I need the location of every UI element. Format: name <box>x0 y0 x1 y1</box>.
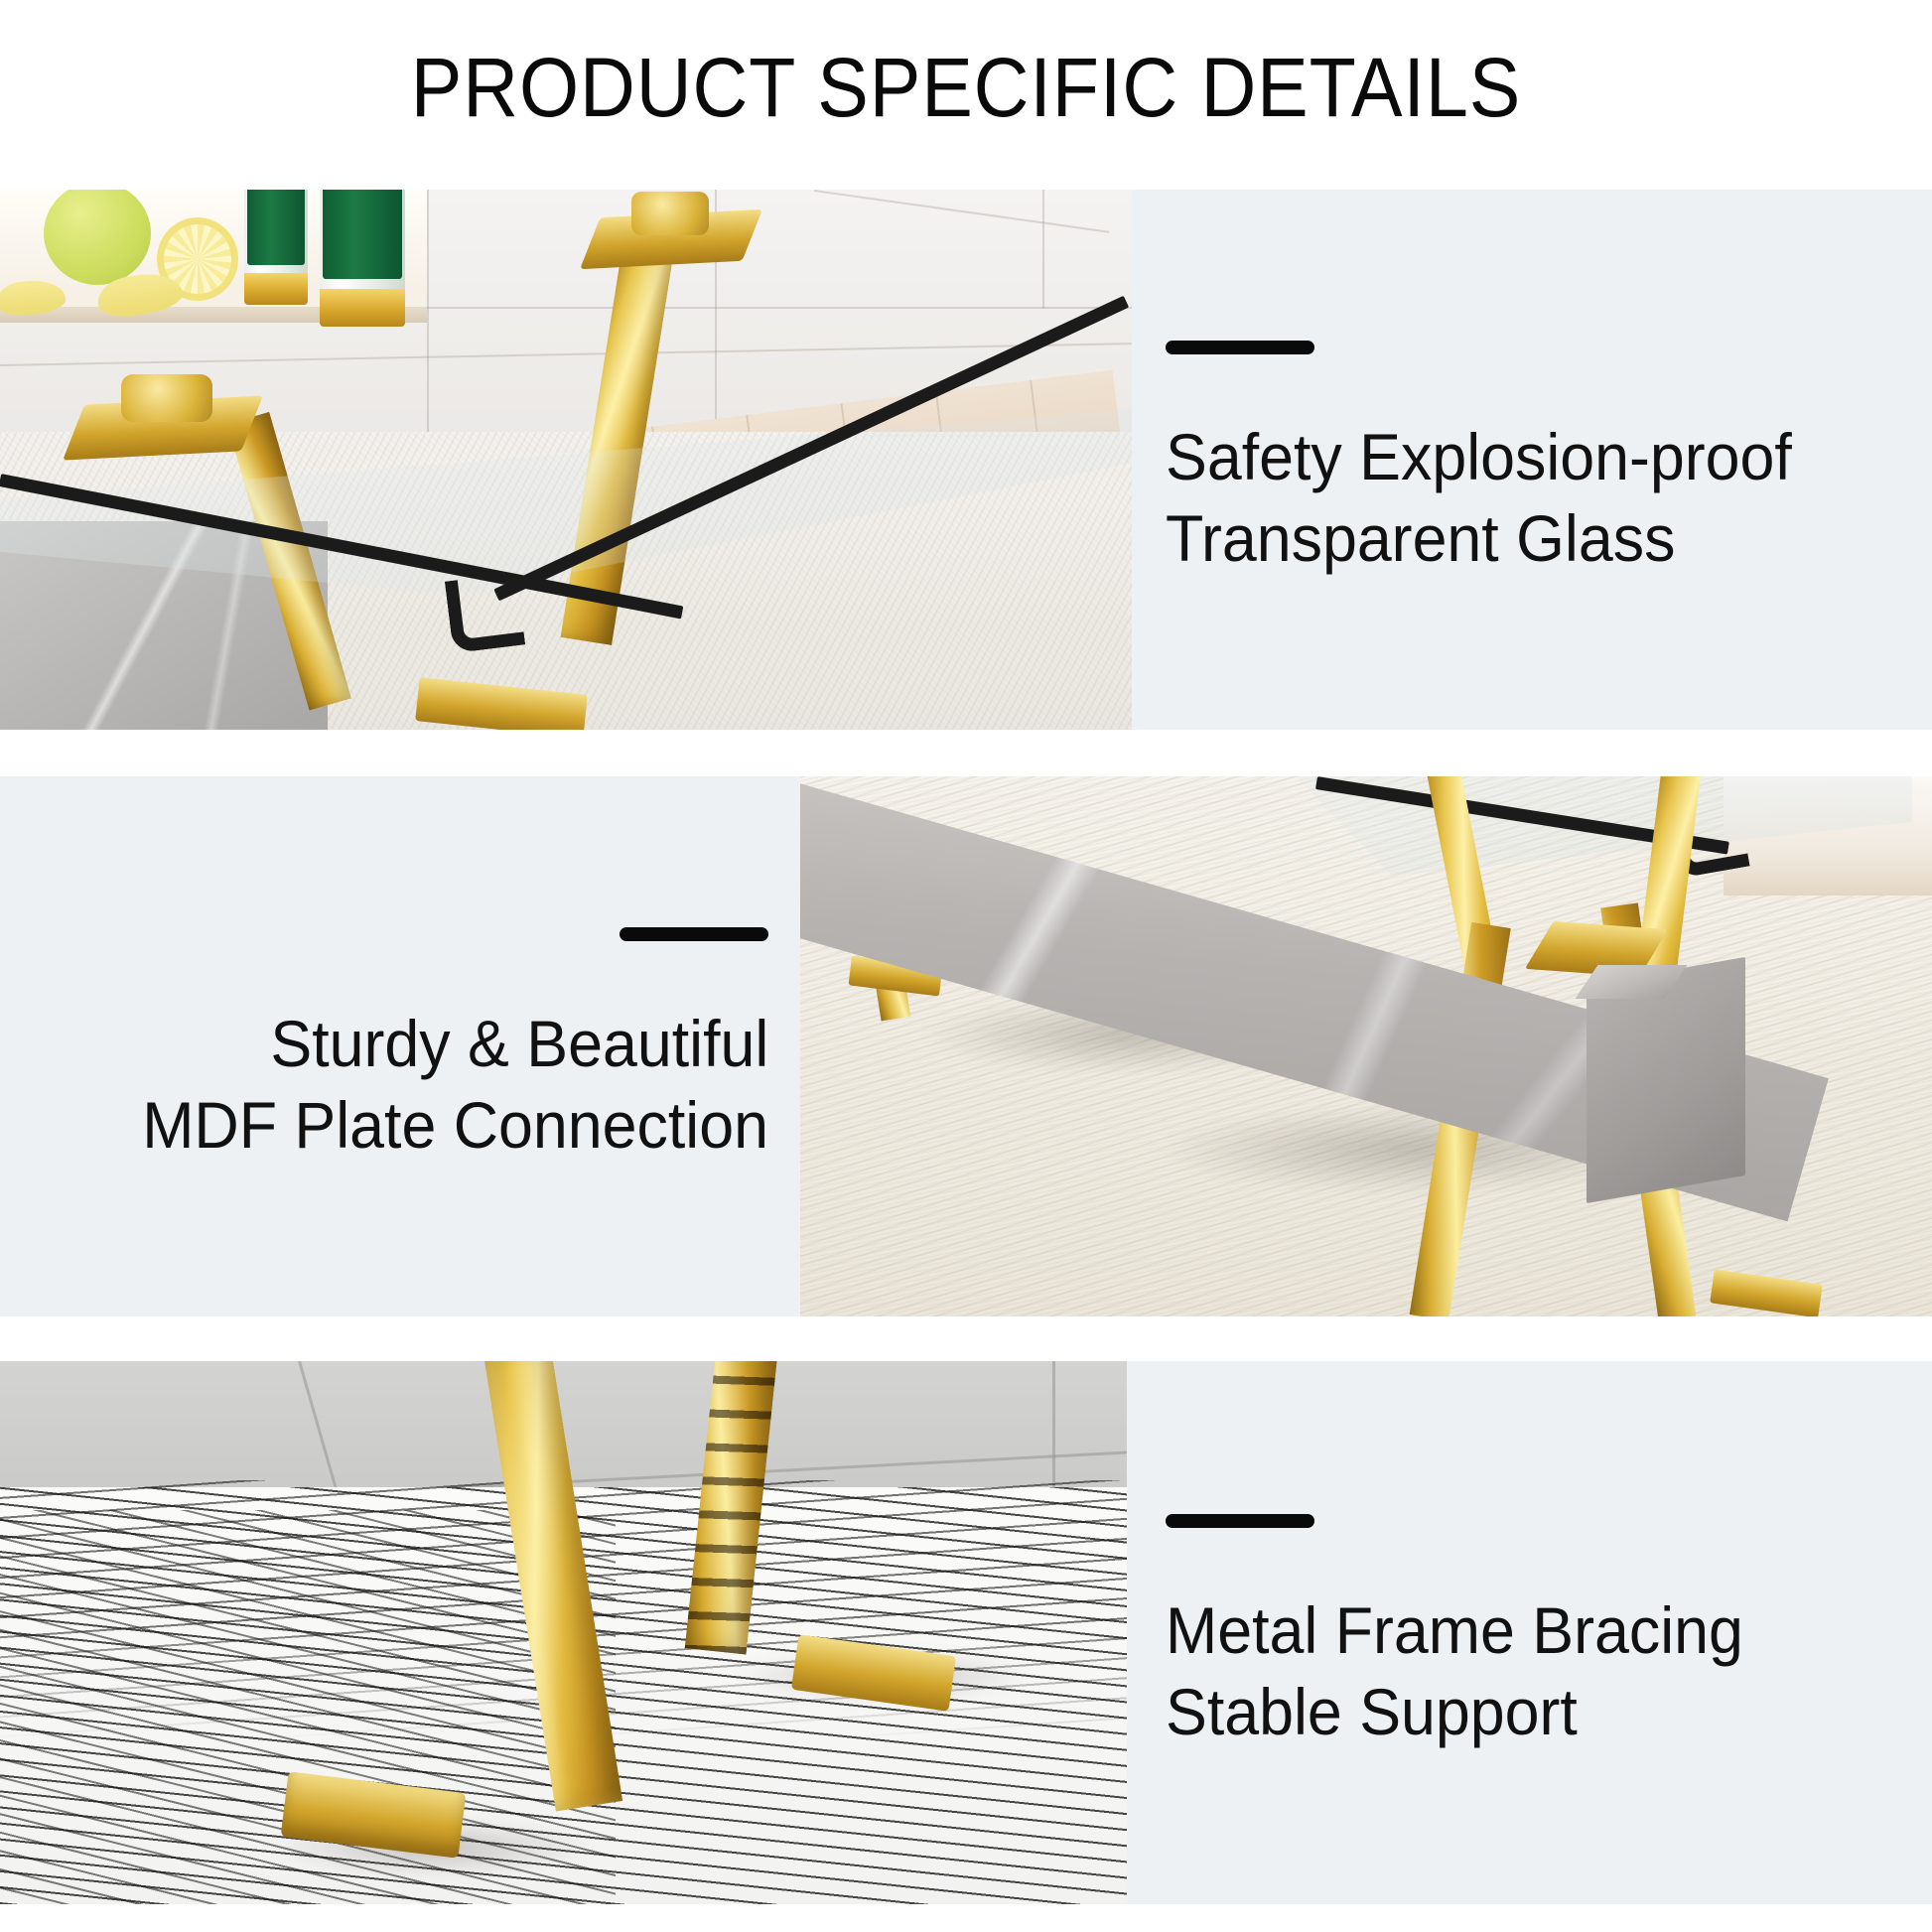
bottle-label <box>247 190 306 265</box>
detail-panel-glass: Safety Explosion-proof Transparent Glass <box>0 190 1932 730</box>
accent-rule <box>1166 1514 1314 1528</box>
caption-line-1: Sturdy & Beautiful <box>270 1003 768 1084</box>
accent-rule <box>620 927 768 941</box>
bottle-cap <box>320 289 405 327</box>
bottle-cap <box>244 273 308 305</box>
glass-corner <box>445 573 525 653</box>
caption-block-glass: Safety Explosion-proof Transparent Glass <box>1132 190 1932 730</box>
caption-line-2: Transparent Glass <box>1166 497 1675 579</box>
detail-panel-mdf: Sturdy & Beautiful MDF Plate Connection <box>0 776 1932 1316</box>
caption-block-frame: Metal Frame Bracing Stable Support <box>1132 1361 1932 1904</box>
detail-panel-frame: Metal Frame Bracing Stable Support <box>0 1361 1932 1904</box>
caption-line-1: Safety Explosion-proof <box>1166 416 1792 497</box>
caption-line-2: Stable Support <box>1166 1671 1578 1752</box>
bottle-label <box>323 190 401 279</box>
caption-block-mdf: Sturdy & Beautiful MDF Plate Connection <box>0 776 800 1316</box>
caption-line-2: MDF Plate Connection <box>142 1084 768 1166</box>
gold-knob-left <box>121 374 212 422</box>
product-photo-glass <box>0 190 1132 730</box>
product-photo-frame <box>0 1361 1127 1904</box>
caption-line-1: Metal Frame Bracing <box>1166 1589 1743 1671</box>
bottle <box>244 190 308 305</box>
gold-knob-right <box>631 192 709 235</box>
product-photo-mdf <box>800 776 1932 1316</box>
page-title: PRODUCT SPECIFIC DETAILS <box>77 36 1855 139</box>
cabinet-seam <box>1042 190 1044 309</box>
bottle <box>320 190 405 327</box>
accent-rule <box>1166 341 1314 354</box>
